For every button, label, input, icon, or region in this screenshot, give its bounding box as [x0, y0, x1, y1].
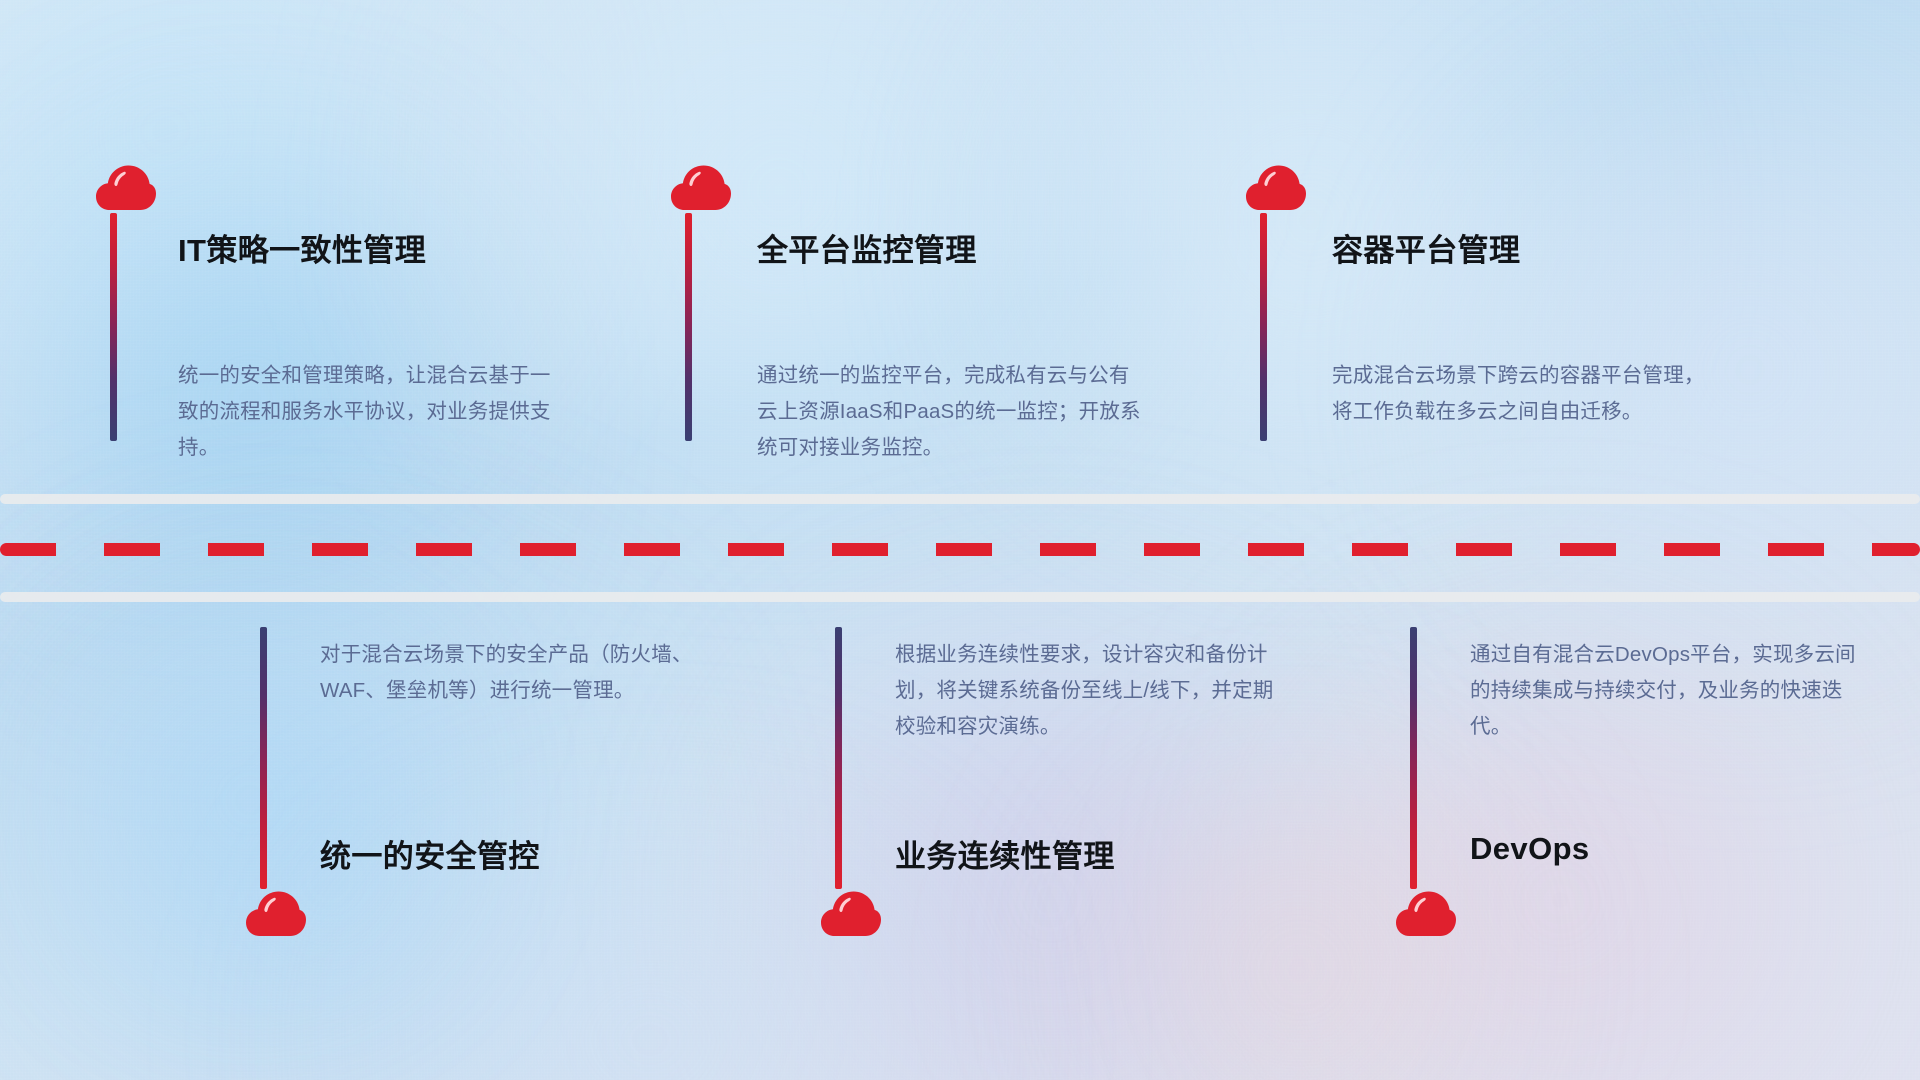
cloud-icon: [1245, 163, 1307, 213]
bottom-item-3-stem: [1410, 627, 1417, 889]
bottom-item-1-body: 对于混合云场景下的安全产品（防火墙、WAF、堡垒机等）进行统一管理。: [320, 637, 706, 709]
bottom-item-2-heading: 业务连续性管理: [895, 831, 1115, 876]
bottom-item-2-pin: [820, 627, 890, 939]
top-item-3-stem: [1260, 213, 1267, 441]
bottom-item-3-body: 通过自有混合云DevOps平台，实现多云间的持续集成与持续交付，及业务的快速迭代…: [1470, 637, 1856, 745]
bottom-item-1-heading: 统一的安全管控: [320, 831, 540, 876]
top-item-2-pin: [670, 163, 740, 441]
top-item-1-body: 统一的安全和管理策略，让混合云基于一致的流程和服务水平协议，对业务提供支持。: [178, 358, 564, 466]
cloud-icon: [1395, 889, 1457, 939]
cloud-icon: [820, 889, 882, 939]
top-item-3-body: 完成混合云场景下跨云的容器平台管理，将工作负载在多云之间自由迁移。: [1332, 358, 1718, 430]
bottom-item-1-pin: [245, 627, 315, 939]
cloud-icon: [245, 889, 307, 939]
top-item-2-stem: [685, 213, 692, 441]
top-item-3-pin: [1245, 163, 1315, 441]
cloud-icon: [670, 163, 732, 213]
top-item-2-heading: 全平台监控管理: [757, 225, 977, 270]
road-top-line: [0, 494, 1920, 504]
bottom-item-2-stem: [835, 627, 842, 889]
bottom-item-3-pin: [1395, 627, 1465, 939]
top-item-2-body: 通过统一的监控平台，完成私有云与公有云上资源IaaS和PaaS的统一监控；开放系…: [757, 358, 1143, 466]
cloud-icon: [95, 163, 157, 213]
top-item-3-heading: 容器平台管理: [1332, 225, 1520, 270]
bottom-item-1-stem: [260, 627, 267, 889]
top-item-1-pin: [95, 163, 165, 441]
top-item-1-stem: [110, 213, 117, 441]
bottom-item-3-heading: DevOps: [1470, 831, 1590, 867]
road-bottom-line: [0, 592, 1920, 602]
road-center-dashed-line: [0, 543, 1920, 556]
top-item-1-heading: IT策略一致性管理: [178, 225, 426, 270]
bottom-item-2-body: 根据业务连续性要求，设计容灾和备份计划，将关键系统备份至线上/线下，并定期校验和…: [895, 637, 1281, 745]
